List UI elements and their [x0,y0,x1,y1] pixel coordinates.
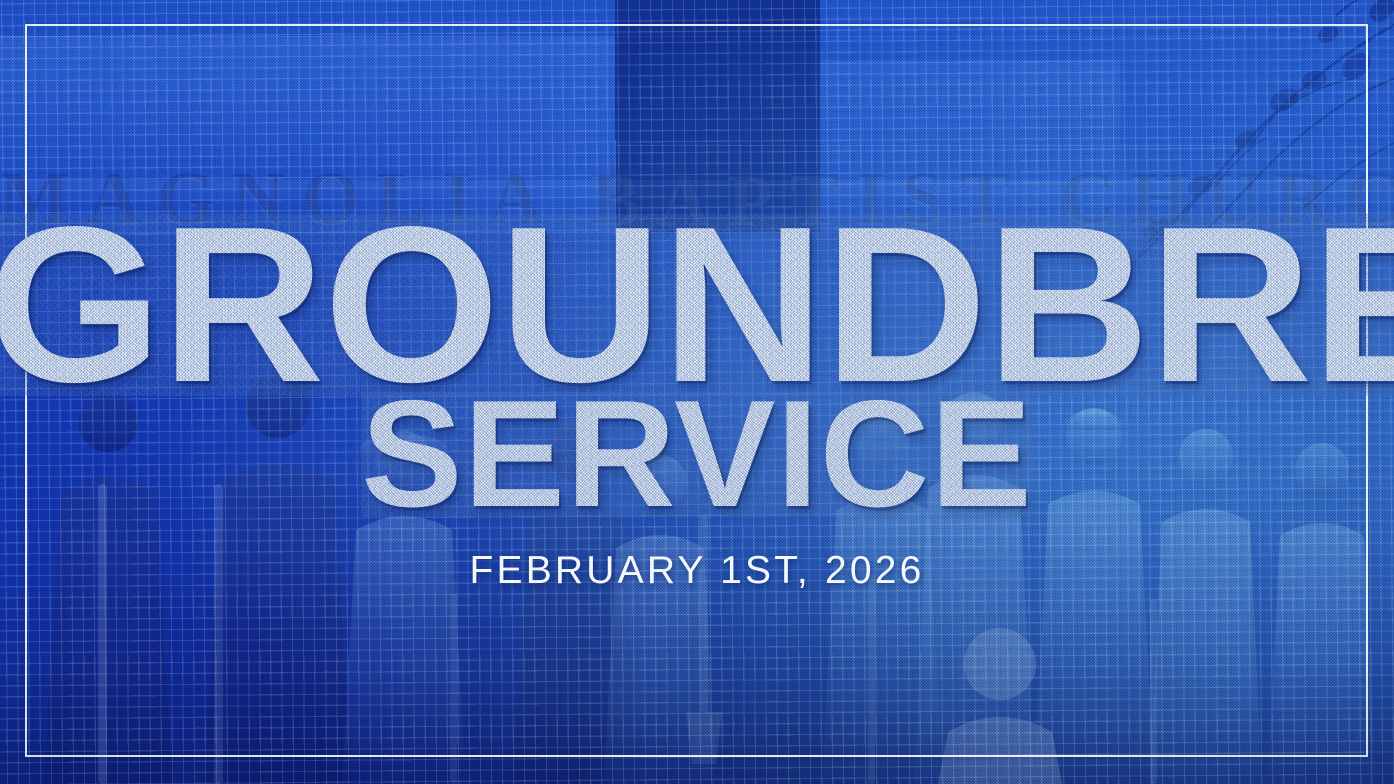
event-date: FEBRUARY 1ST, 2026 [0,551,1394,590]
promo-graphic-canvas: MAGNOLIA BAPTIST CHURCH [0,0,1394,784]
headline-line2-text: SERVICE [361,369,1033,539]
headline-service: SERVICE [0,392,1394,517]
typography-block: GROUNDBREAKING SERVICE FEBRUARY 1ST, 202… [0,0,1394,784]
